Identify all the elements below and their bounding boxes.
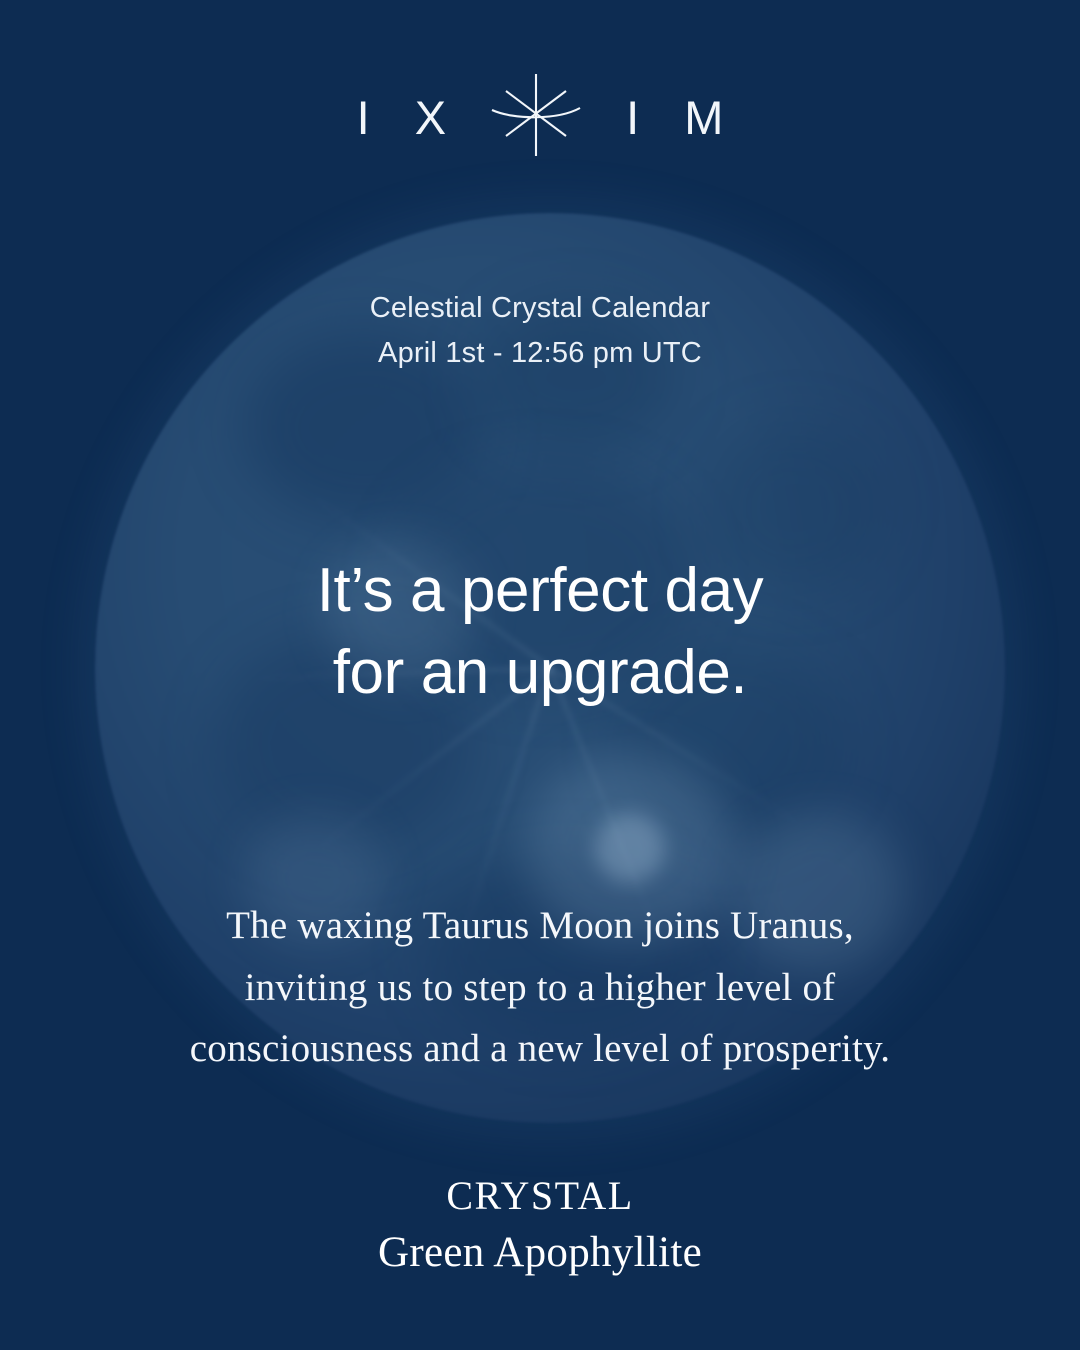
header-block: Celestial Crystal Calendar April 1st - 1… xyxy=(0,286,1080,376)
body-line-2: inviting us to step to a higher level of xyxy=(0,957,1080,1019)
brand-mark-right: I M xyxy=(610,94,739,141)
calendar-title: Celestial Crystal Calendar xyxy=(0,286,1080,331)
headline-line-1: It’s a perfect day xyxy=(0,550,1080,632)
eight-point-star-icon xyxy=(488,72,584,163)
body-line-3: consciousness and a new level of prosper… xyxy=(0,1018,1080,1080)
celestial-crystal-calendar-poster: I X I M Celestial Crystal Calendar April… xyxy=(0,0,1080,1350)
headline-block: It’s a perfect day for an upgrade. xyxy=(0,550,1080,714)
brand-logo[interactable]: I X I M xyxy=(0,72,1080,163)
crystal-label: CRYSTAL xyxy=(0,1170,1080,1222)
crystal-name: Green Apophyllite xyxy=(0,1222,1080,1284)
body-line-1: The waxing Taurus Moon joins Uranus, xyxy=(0,895,1080,957)
body-paragraph: The waxing Taurus Moon joins Uranus, inv… xyxy=(0,895,1080,1080)
calendar-datetime: April 1st - 12:56 pm UTC xyxy=(0,331,1080,376)
brand-mark-left: I X xyxy=(341,94,462,141)
crystal-block: CRYSTAL Green Apophyllite xyxy=(0,1170,1080,1284)
headline-line-2: for an upgrade. xyxy=(0,632,1080,714)
